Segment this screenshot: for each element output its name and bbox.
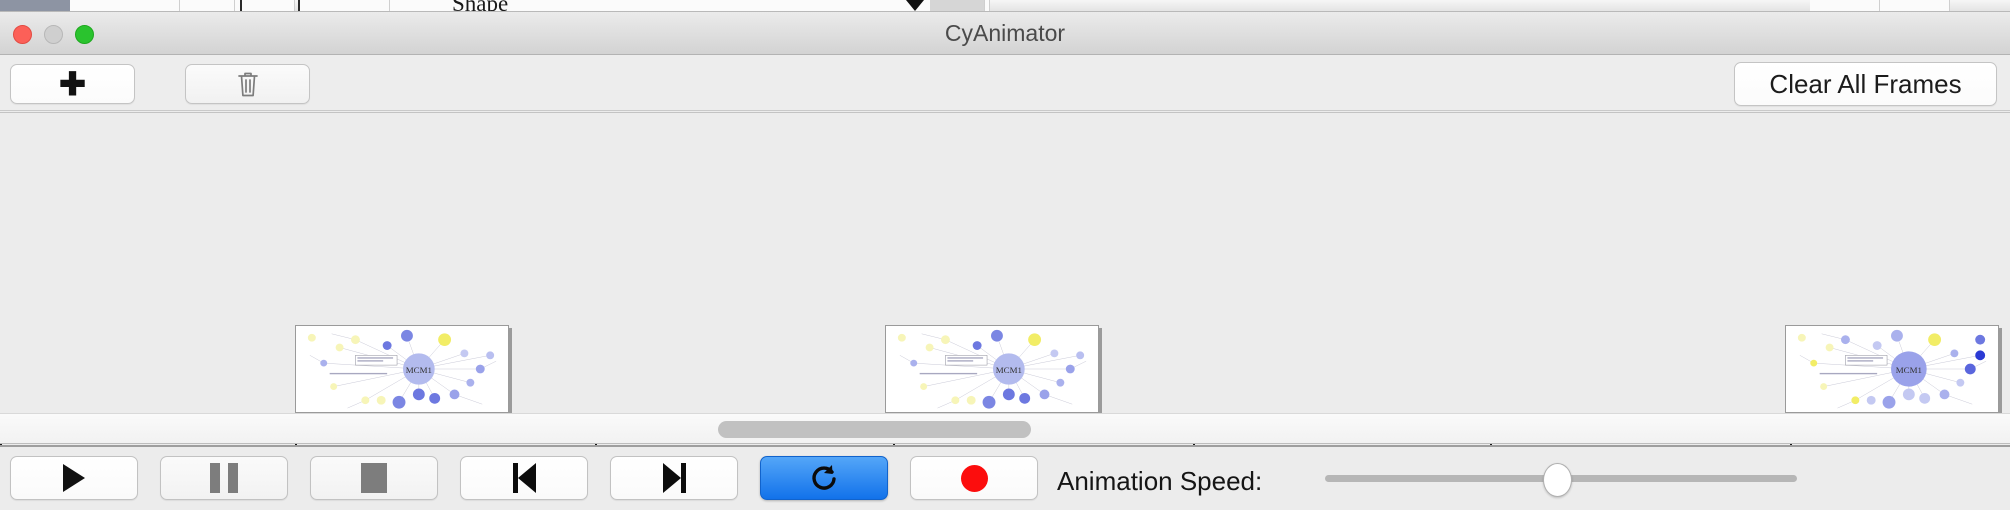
- record-button[interactable]: [910, 456, 1038, 500]
- stop-button[interactable]: [310, 456, 438, 500]
- play-icon: [63, 464, 85, 492]
- background-chip-3: [235, 0, 295, 12]
- background-window-label: Shape: [452, 0, 508, 12]
- background-window-strip: Shape: [0, 0, 2010, 12]
- background-chip-8: [1880, 0, 1950, 12]
- hub-node-label: MCM1: [1896, 365, 1922, 375]
- background-triangle-icon: [906, 0, 924, 11]
- stop-icon: [361, 463, 387, 493]
- title-bar[interactable]: CyAnimator: [0, 12, 2010, 55]
- skip-forward-icon: [663, 463, 686, 493]
- network-thumbnail-icon: MCM1: [296, 326, 508, 412]
- hub-node-label: MCM1: [406, 365, 432, 375]
- playback-control-bar: Animation Speed:: [0, 445, 2010, 510]
- previous-frame-button[interactable]: [460, 456, 588, 500]
- network-thumbnail-icon: MCM1: [1786, 326, 1998, 412]
- keyframe-thumbnail-1[interactable]: MCM1: [295, 325, 509, 413]
- background-chip-1: [70, 0, 180, 12]
- timeline-panel[interactable]: MCM1: [0, 112, 2010, 412]
- skip-back-icon: [513, 463, 536, 493]
- background-chip-7: [1810, 0, 1880, 12]
- cyanimator-window: Shape CyAnimator ✚ Clear All Frames: [0, 0, 2010, 510]
- hub-node-label: MCM1: [996, 365, 1022, 375]
- plus-icon: ✚: [59, 68, 86, 100]
- horizontal-scrollbar-thumb[interactable]: [718, 421, 1031, 438]
- network-thumbnail-icon: MCM1: [886, 326, 1098, 412]
- background-chip-6: [930, 0, 985, 12]
- background-sidebar-chip: [0, 0, 70, 12]
- background-tick-2: [298, 0, 300, 12]
- animation-speed-label: Animation Speed:: [1057, 466, 1262, 497]
- horizontal-scrollbar-track[interactable]: [0, 413, 2010, 444]
- loop-icon: [809, 463, 839, 493]
- clear-all-frames-button[interactable]: Clear All Frames: [1734, 62, 1997, 106]
- pause-button[interactable]: [160, 456, 288, 500]
- trash-icon: [236, 70, 260, 98]
- window-title: CyAnimator: [0, 12, 2010, 55]
- delete-frame-button[interactable]: [185, 64, 310, 104]
- animation-speed-slider-knob[interactable]: [1543, 463, 1572, 497]
- background-chip-2: [180, 0, 235, 12]
- loop-button[interactable]: [760, 456, 888, 500]
- next-frame-button[interactable]: [610, 456, 738, 500]
- keyframe-thumbnail-3[interactable]: MCM1: [1785, 325, 1999, 413]
- background-chip-4: [300, 0, 390, 12]
- add-frame-button[interactable]: ✚: [10, 64, 135, 104]
- frame-toolbar: ✚ Clear All Frames: [0, 55, 2010, 111]
- play-button[interactable]: [10, 456, 138, 500]
- keyframe-thumbnail-2[interactable]: MCM1: [885, 325, 1099, 413]
- pause-icon: [210, 463, 238, 493]
- record-icon: [961, 465, 988, 492]
- background-tick-1: [240, 0, 242, 12]
